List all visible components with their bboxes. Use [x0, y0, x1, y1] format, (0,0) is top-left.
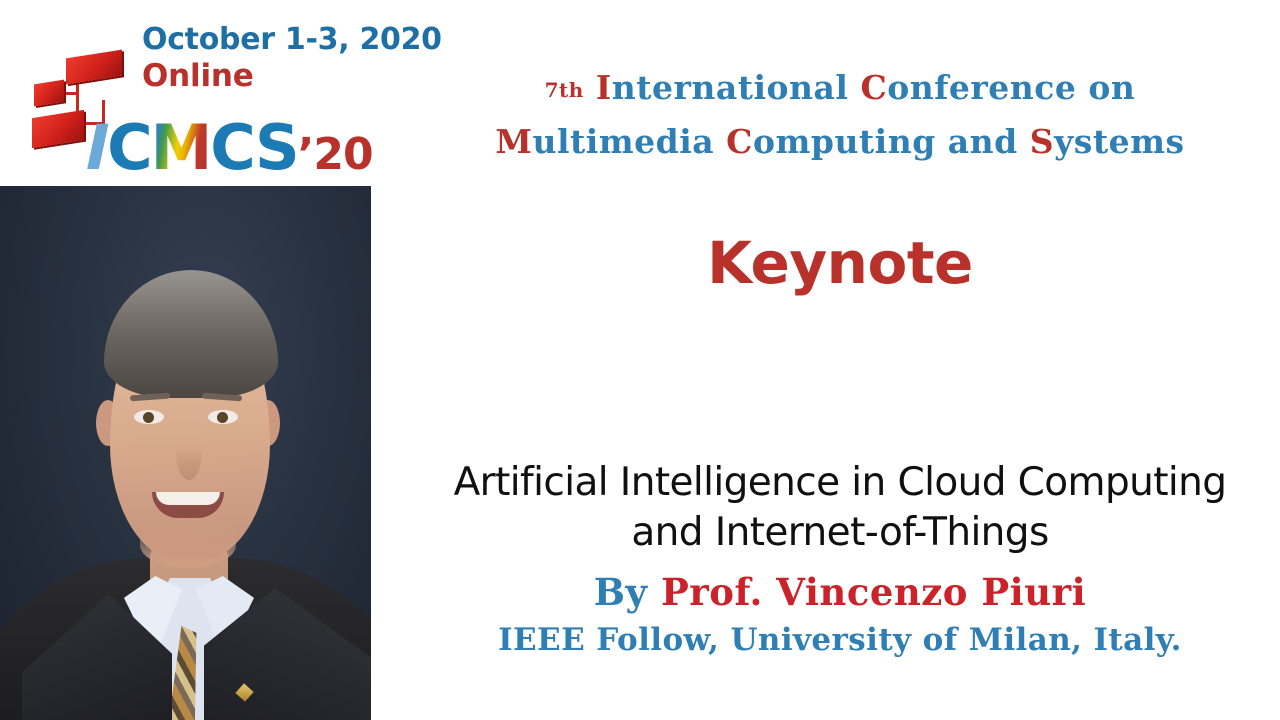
title-cap-i: I — [596, 68, 612, 107]
conference-title: 7th International Conference on Multimed… — [420, 62, 1260, 167]
title-word-on: on — [1088, 68, 1135, 107]
talk-title: Artificial Intelligence in Cloud Computi… — [400, 458, 1280, 558]
title-cap-m: M — [495, 122, 532, 161]
logo-acronym-letter-c1: C — [107, 111, 151, 184]
talk-by-word: By — [594, 570, 648, 614]
logo-date-line: October 1-3, 2020 — [142, 22, 447, 58]
logo-acronym: ICMCS’20 — [86, 117, 373, 186]
title-word-international: nternational — [612, 68, 849, 107]
logo-acronym-letter-s: S — [255, 111, 298, 184]
talk-details: Artificial Intelligence in Cloud Computi… — [400, 458, 1280, 661]
logo-block-bottom — [32, 110, 84, 148]
speaker-portrait-photo — [0, 186, 371, 720]
logo-acronym-letter-m: M — [151, 111, 211, 184]
logo-year-suffix: ’20 — [298, 129, 373, 180]
logo-mode-line: Online — [142, 58, 447, 94]
title-word-conference: onference — [887, 68, 1076, 107]
conference-logo: October 1-3, 2020 Online ICMCS’20 — [24, 22, 444, 177]
logo-text: October 1-3, 2020 Online — [142, 22, 447, 94]
title-word-and: and — [948, 122, 1018, 161]
title-cap-s: S — [1030, 122, 1054, 161]
logo-link-horizontal-upper — [62, 92, 78, 95]
portrait-chin — [140, 522, 236, 568]
logo-block-top — [66, 50, 122, 85]
talk-title-line-2: and Internet-of-Things — [400, 508, 1280, 558]
title-cap-c: C — [860, 68, 887, 107]
title-cap-c2: C — [726, 122, 753, 161]
title-word-systems: ystems — [1054, 122, 1185, 161]
portrait-nose — [176, 424, 202, 480]
portrait-eye-left — [134, 410, 164, 424]
talk-title-line-1: Artificial Intelligence in Cloud Computi… — [400, 458, 1280, 508]
keynote-slide: October 1-3, 2020 Online ICMCS’20 7th — [0, 0, 1280, 720]
conference-title-line-2: Multimedia Computing and Systems — [420, 116, 1260, 167]
conference-ordinal: 7th — [545, 78, 584, 102]
talk-speaker-affiliation: IEEE Follow, University of Milan, Italy. — [400, 619, 1280, 661]
conference-title-line-1: 7th International Conference on — [420, 62, 1260, 116]
portrait-teeth — [156, 492, 220, 505]
portrait-eye-right — [208, 410, 238, 424]
logo-acronym-letter-c2: C — [210, 111, 255, 184]
title-word-multimedia: ultimedia — [532, 122, 714, 161]
logo-block-left — [34, 80, 64, 107]
title-word-computing: omputing — [753, 122, 936, 161]
talk-speaker-line: By Prof. Vincenzo Piuri — [400, 570, 1280, 615]
talk-speaker-name: Prof. Vincenzo Piuri — [661, 570, 1086, 614]
keynote-heading: Keynote — [420, 228, 1260, 298]
